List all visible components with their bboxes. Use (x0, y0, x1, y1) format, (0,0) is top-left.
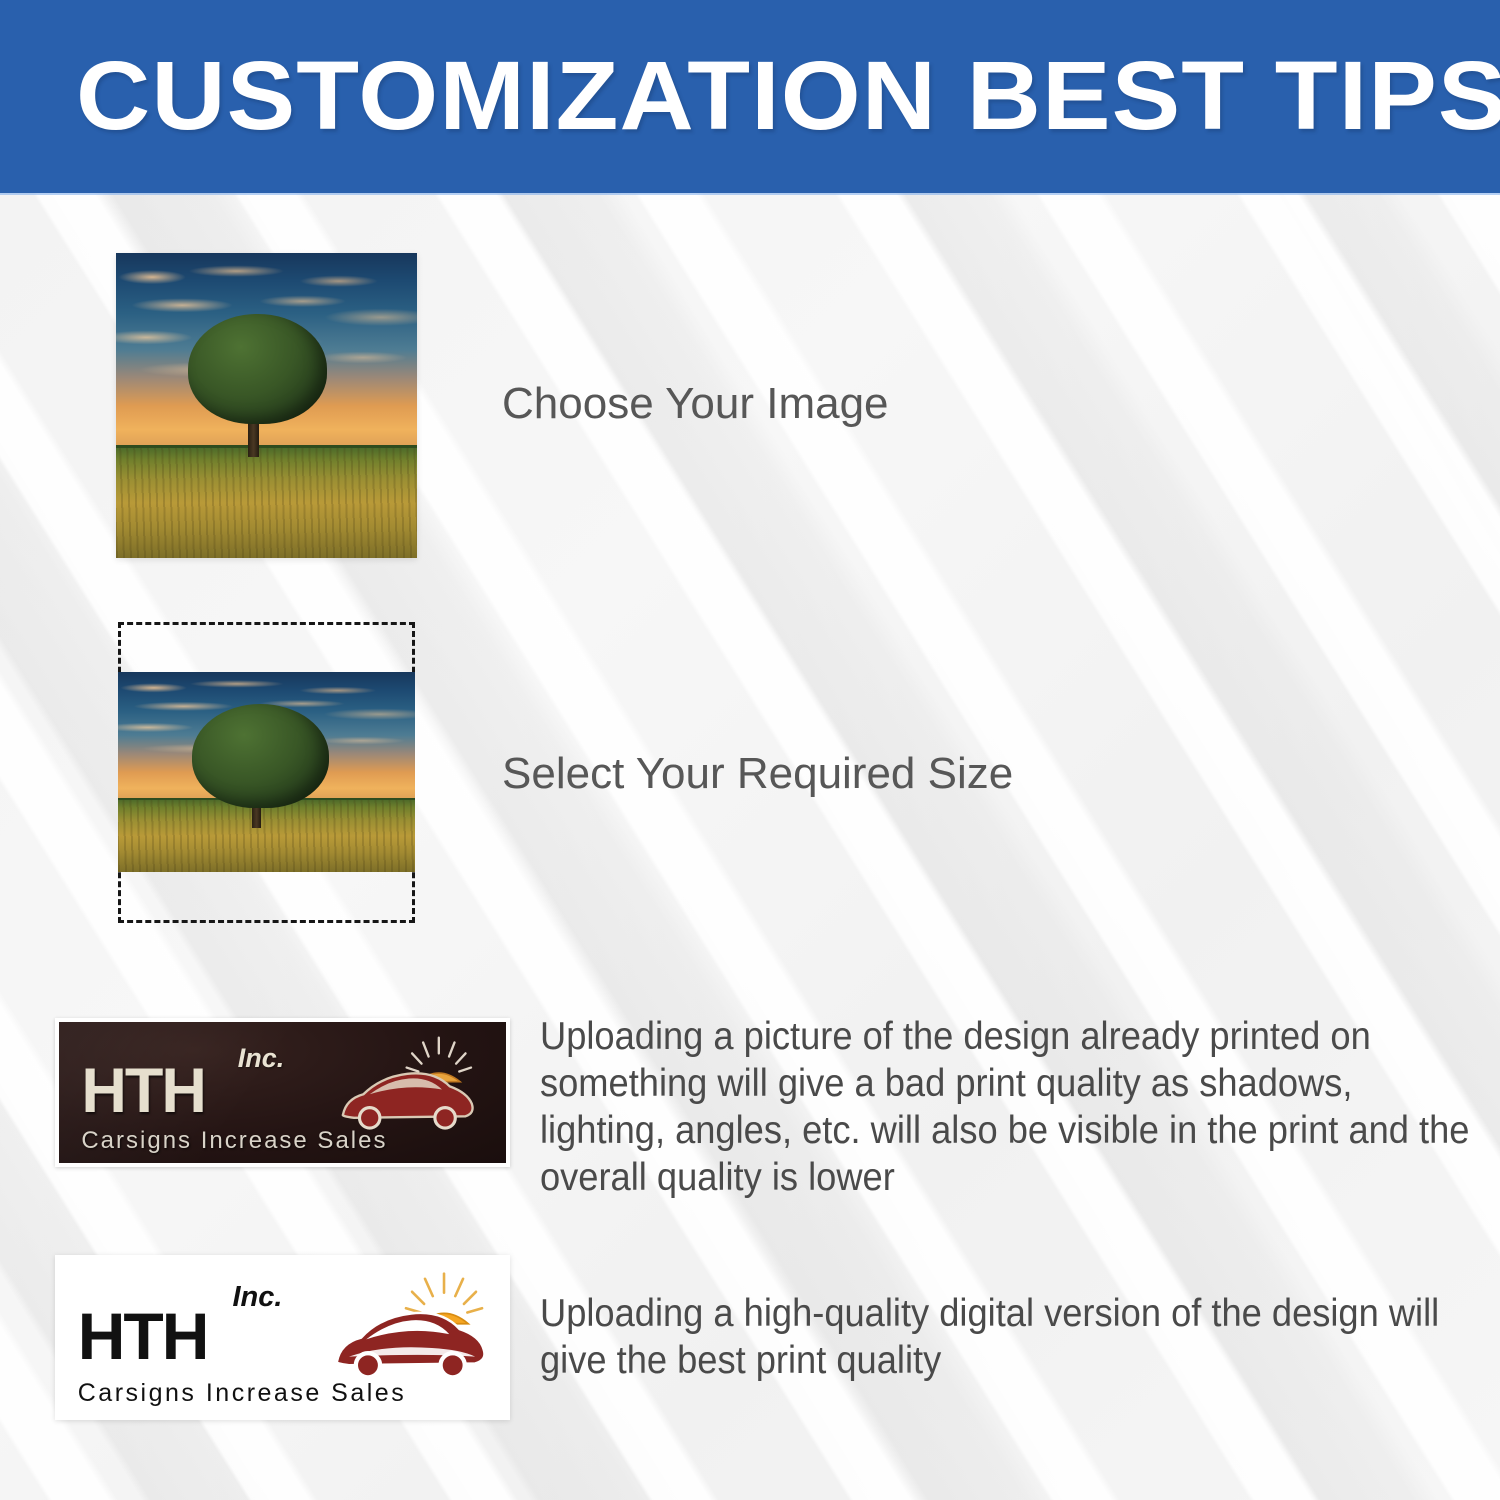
step-label-select-size: Select Your Required Size (502, 748, 1202, 800)
header-banner: CUSTOMIZATION BEST TIPS (0, 0, 1500, 193)
wide-cropped-landscape-photo (118, 672, 415, 872)
page-root: CUSTOMIZATION BEST TIPS Choose Your Imag… (0, 0, 1500, 1500)
square-landscape-photo (116, 253, 417, 558)
photo-field (118, 800, 415, 872)
banner-surface: HTH Inc. Carsigns Increase Sales (59, 1022, 506, 1163)
car-with-sun-icon (318, 1033, 497, 1143)
photo-field (116, 448, 417, 558)
car-with-sun-icon (323, 1268, 496, 1393)
step-label-good-quality: Uploading a high-quality digital version… (540, 1290, 1451, 1384)
photo-tree-canopy (192, 704, 329, 808)
digital-logo-image: HTH Inc. Carsigns Increase Sales (55, 1255, 510, 1420)
hth-inc-text: Inc. (232, 1281, 282, 1314)
hth-brand-text: HTH (81, 1060, 204, 1123)
step-label-choose-image: Choose Your Image (502, 378, 1142, 430)
photo-tree-canopy (188, 314, 326, 424)
hth-brand-text: HTH (78, 1303, 208, 1369)
step-label-bad-quality: Uploading a picture of the design alread… (540, 1013, 1470, 1201)
hth-logo-lockup: HTH Inc. Carsigns Increase Sales (59, 1022, 506, 1163)
hth-inc-text: Inc. (238, 1043, 285, 1074)
photographed-banner-image: HTH Inc. Carsigns Increase Sales (55, 1018, 510, 1167)
page-title: CUSTOMIZATION BEST TIPS (76, 44, 1500, 148)
hth-logo-lockup: HTH Inc. Carsigns Increase Sales (55, 1255, 510, 1420)
